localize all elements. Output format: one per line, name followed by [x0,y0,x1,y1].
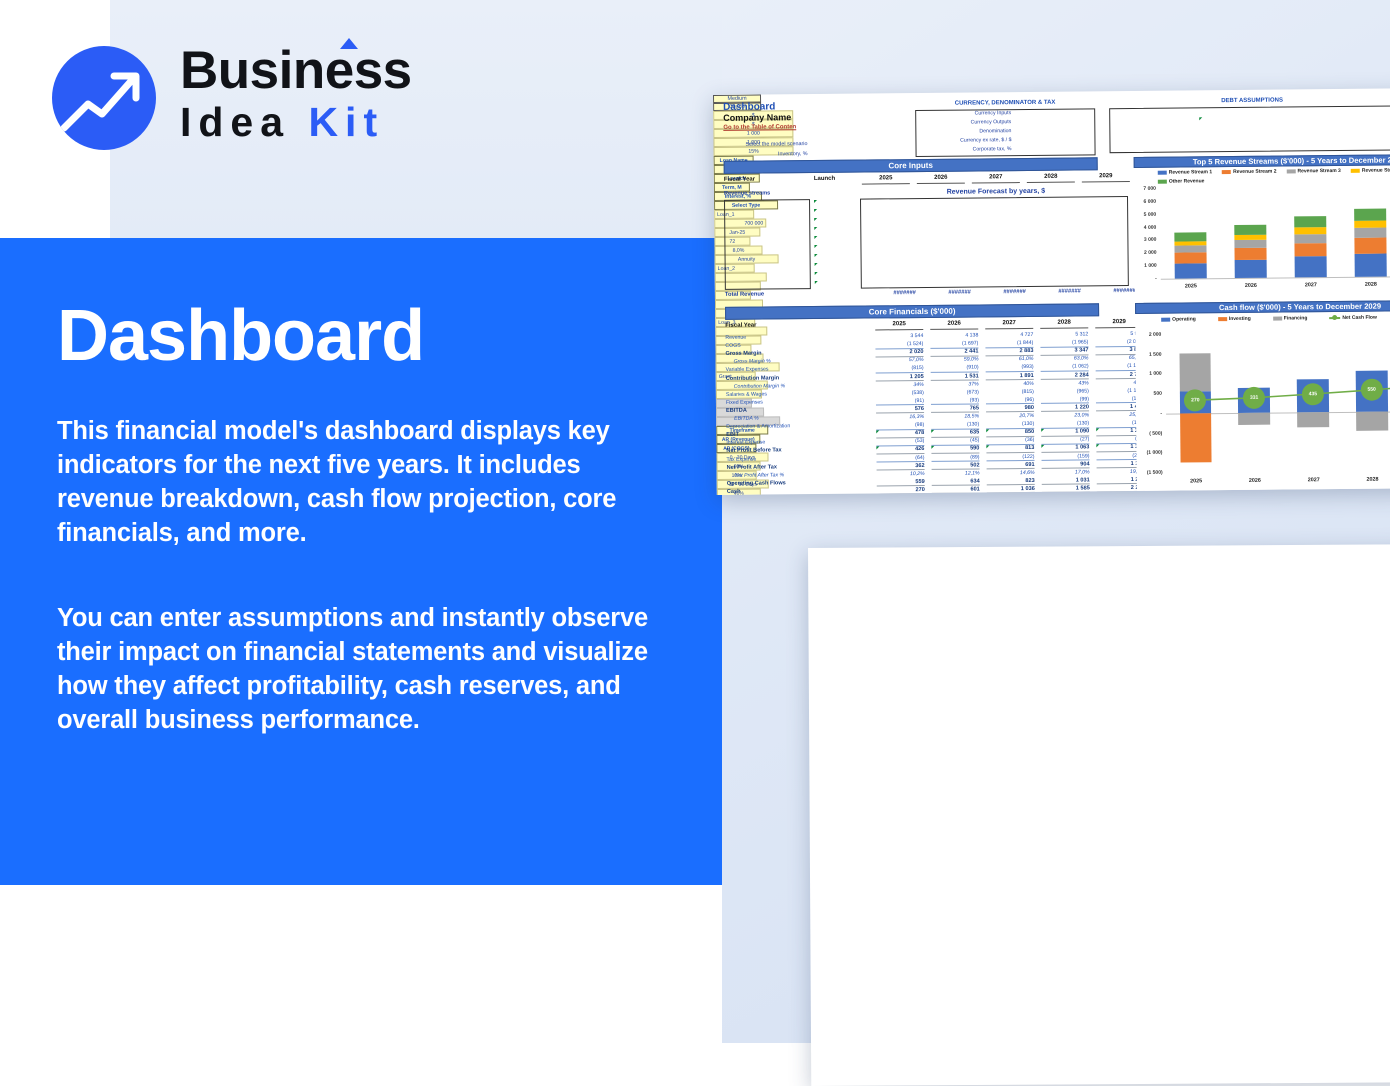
financial-row-value: (45) [931,438,979,446]
year-header: 2026 [917,175,965,181]
y-axis-tick: 6 000 [1134,199,1156,205]
year-header: 2027 [972,174,1020,180]
cell-comment-marker [1199,117,1202,120]
x-axis-tick: 2027 [1281,282,1341,289]
brand-name-line2: Idea Kit [180,100,412,145]
financial-row-label: Gross Margin [725,351,761,357]
sheet-title: Dashboard [723,102,775,113]
financial-row-value: 2 441 [930,349,978,357]
financials-year-rule [875,329,923,330]
financial-row-value: 1 531 [931,373,979,381]
financial-row-value: (93) [931,397,979,405]
bar-segment [1295,243,1326,257]
bar-segment [1295,257,1326,278]
bar-segment [1295,234,1326,243]
total-revenue-value: ####### [1083,289,1136,295]
financial-row-value: 1 063 [1041,445,1089,453]
financial-row-value: 16,3% [876,414,924,420]
financials-year-header: 2026 [930,320,978,326]
financial-row-label: Net Profit After Tax % [735,472,785,478]
legend-label: Revenue Stream 2 [1233,169,1276,175]
financial-row-value: (159) [1041,453,1089,461]
total-revenue-label: Total Revenue [725,293,764,299]
financial-row-value: 5 312 [1040,331,1088,337]
bar-segment [1355,238,1386,254]
financial-row-value: 12,1% [932,470,980,476]
fiscal-year-label: Fiscal Year [724,177,755,183]
financial-row-value: 1 205 [876,373,924,381]
cell-comment-marker [814,209,817,212]
year-header: 2029 [1082,173,1130,179]
y-axis-tick: 2 000 [1135,250,1157,256]
legend-swatch [1351,169,1360,173]
chart-legend: Revenue Stream 1Revenue Stream 2Revenue … [1158,167,1390,185]
financial-row-value: 10,2% [877,471,925,477]
financial-row-value: 18,5% [931,413,979,419]
dashboard-screenshot-bottom: DashboardCompany NameGo to the Table of … [808,544,1390,1086]
bar-segment [1355,228,1386,239]
financial-row-value: 635 [931,430,979,438]
legend-item: Revenue Stream 1 [1158,169,1212,176]
y-axis-tick: 5 000 [1134,211,1156,217]
inventory-label: Inventory, % [736,152,808,158]
cell-comment-marker [876,431,879,434]
financial-row-value: 823 [987,478,1035,486]
data-bubble-net-cash-flow: 435 [1302,383,1324,405]
bar-segment [1355,253,1386,276]
financials-year-header: 2028 [1040,319,1088,325]
bar-segment [1295,216,1326,228]
bar-segment [1295,228,1326,234]
cell-comment-marker [1096,428,1099,431]
sheet-content-top: DashboardCompany NameGo to the Table of … [713,88,1390,495]
financial-row-value: 1 891 [986,372,1034,380]
financial-row-value: (673) [931,389,979,395]
cell-comment-marker [814,227,817,230]
financial-row-value: (965) [1041,388,1089,394]
legend-swatch [1222,170,1231,174]
cell-comment-marker [814,236,817,239]
launch-label: Launch [814,176,835,182]
bar-segment [1175,253,1206,264]
financial-row-label: Cash [727,489,741,495]
financial-row-value: (98) [876,422,924,430]
legend-label: Revenue Stream 1 [1169,169,1212,175]
financial-row-label: Variable Expenses [726,367,769,373]
financial-row-value: 2 883 [985,348,1033,356]
year-rule [1082,181,1130,182]
y-axis-tick: 1 000 [1135,263,1157,269]
financial-row-label: Revenue [725,335,746,341]
financial-row-label: Tax Expense [726,456,756,462]
revenue-forecast-title: Revenue Forecast by years, $ [862,187,1130,197]
brand-name-line1: Business [180,44,412,98]
brand-kit-text: Kit [308,99,384,145]
financial-row-value: (36) [986,437,1034,445]
financial-row-value: 3 544 [875,333,923,339]
bar-segment [1235,234,1266,240]
financial-row-value: (1 697) [930,341,978,349]
debt-block-frame [1109,105,1390,153]
financial-row-label: Salaries & Wages [726,391,767,397]
cell-comment-marker [1041,429,1044,432]
revenue-streams-label: Revenue streams [724,191,770,197]
financial-row-value: 34% [876,382,924,388]
financial-row-value: 502 [932,462,980,470]
financial-row-value: 813 [986,445,1034,453]
sheet-content-bottom: DashboardCompany NameGo to the Table of … [808,544,1390,636]
financial-row-value: 478 [876,430,924,438]
x-axis-tick: 2025 [1161,283,1221,290]
legend-swatch [1158,171,1167,175]
financial-row-value: 37% [931,381,979,387]
financial-row-label: EBITDA [726,408,747,414]
bar-segment [1355,221,1386,228]
scenario-label: Select the model scenario [735,142,807,148]
cell-comment-marker [815,254,818,257]
currency-row-label: Denomination [917,129,1011,135]
hero-paragraph-2: You can enter assumptions and instantly … [57,602,657,738]
financial-row-value: (815) [876,365,924,373]
x-axis-tick: 2028 [1341,281,1390,288]
currency-row-label: Currency ex rate, $ / $ [917,138,1011,144]
year-header: 2028 [1027,174,1075,180]
financial-row-value: 2 284 [1041,372,1089,380]
financial-row-label: Contribution Margin % [734,383,785,389]
financial-row-value: (815) [986,389,1034,395]
debt-cell[interactable]: 72 [714,237,750,246]
financial-row-value: (130) [931,422,979,430]
financial-row-label: Interest Expense [726,440,765,446]
financials-year-header: 2027 [985,320,1033,326]
currency-row-label: Currency Inputs [917,111,1011,117]
financial-row-label: COGS [725,343,740,349]
financial-row-value: 4 727 [985,332,1033,338]
financial-row-value: 57,0% [876,357,924,363]
debt-cell[interactable]: Annuity [715,254,779,264]
bar-segment [1235,240,1266,248]
year-rule [862,183,910,184]
chart-title: Top 5 Revenue Streams ($'000) - 5 Years … [1134,154,1390,168]
financial-row-value: 20,7% [986,413,1034,419]
cell-comment-marker [814,245,817,248]
financial-row-value: (538) [876,390,924,396]
financial-row-value: (91) [876,398,924,406]
financials-fiscal-year-label: Fiscal Year [725,323,756,329]
financial-row-value: (53) [876,438,924,446]
financial-row-value: 63,0% [1041,356,1089,362]
financial-row-value: 43% [1041,380,1089,386]
legend-swatch [1158,180,1167,184]
debt-col-header: Select Type [714,200,778,210]
financial-row-value: (1 524) [875,341,923,349]
legend-item: Other Revenue [1158,178,1205,184]
financial-row-value: 634 [932,478,980,486]
financial-row-value: 59,0% [931,357,979,363]
legend-swatch [1286,169,1295,173]
financial-row-value: 14,6% [987,470,1035,476]
financial-row-value: 559 [877,479,925,487]
financial-row-label: Contribution Margin [726,375,780,382]
financial-row-value: (993) [986,364,1034,372]
financial-row-value: (1 965) [1040,340,1088,348]
chart-cash-flow: Cash flow ($'000) - 5 Years to December … [1135,300,1390,493]
core-financials-title: Core Financials ($'000) [725,303,1099,320]
debt-cell[interactable]: Loan_1 [714,210,754,219]
bar-segment [1235,260,1266,278]
financial-row-label: Operating Cash Flows [727,480,786,487]
brand-idea-text: Idea [180,99,308,145]
y-axis-tick: 3 000 [1134,237,1156,243]
financial-row-value: (1 844) [985,340,1033,348]
legend-label: Revenue Stream 4 [1362,167,1390,173]
data-bubble-net-cash-flow: 550 [1361,379,1383,401]
financial-row-value: 4 138 [930,332,978,338]
year-rule [1027,182,1075,183]
total-revenue-value: ####### [973,290,1026,296]
legend-item: Revenue Stream 3 [1286,168,1340,175]
financial-row-value: 426 [876,446,924,454]
background-bottom-white [0,885,722,1043]
financials-year-header: 2025 [875,321,923,327]
cell-comment-marker [1096,445,1099,448]
financial-row-value: (89) [931,454,979,462]
financial-row-value: (122) [986,453,1034,461]
legend-label: Revenue Stream 3 [1297,168,1340,174]
financial-row-value: 2 020 [875,349,923,357]
debt-cell[interactable]: 8,0% [714,246,762,255]
cell-comment-marker [931,446,934,449]
financial-row-value: 3 347 [1040,348,1088,356]
revenue-values-frame [860,196,1129,289]
circumflex-accent-icon [340,38,358,49]
financial-row-value: 576 [876,406,924,414]
financials-year-rule [985,328,1033,329]
year-rule [917,183,965,184]
chart-top5-revenue-streams: Top 5 Revenue Streams ($'000) - 5 Years … [1134,154,1390,297]
brand-logo: Business Idea Kit [52,38,452,156]
y-axis-tick: - [1135,276,1157,282]
currency-row-label: Corporate tax, % [918,147,1012,153]
financial-row-label: Gross Margin % [734,359,771,365]
financial-row-value: 61,0% [986,356,1034,362]
debt-cell[interactable]: Jan-25 [714,228,760,237]
debt-cell[interactable]: Loan_2 [715,264,755,273]
financial-row-value: (130) [986,421,1034,429]
financial-row-value: 590 [931,446,979,454]
financial-row-value: 850 [986,429,1034,437]
cell-comment-marker [876,447,879,450]
company-name: Company Name [723,113,791,123]
financial-row-label: Net Profit After Tax [727,464,777,470]
bar-segment [1175,246,1206,253]
financial-row-label: Fixed Expenses [726,399,763,405]
financial-row-value: 691 [987,462,1035,470]
financial-row-value: (99) [1041,396,1089,404]
bar-segment [1235,248,1266,260]
financial-row-label: Net Profit Before Tax [726,448,781,455]
financial-row-value: 765 [931,405,979,413]
financial-row-value: 23,0% [1041,412,1089,418]
y-axis-tick: 7 000 [1134,186,1156,192]
total-revenue-value: ####### [863,291,916,297]
bar-segment [1235,224,1266,234]
financial-row-value: (64) [876,454,924,462]
poster-root: Business Idea Kit Dashboard This financi… [0,0,1390,1043]
bar-segment [1175,241,1206,246]
growth-arrow-icon [52,46,156,150]
currency-row-label: Currency Outputs [917,120,1011,126]
financial-row-value: (910) [931,365,979,373]
debt-cell[interactable] [715,282,761,291]
page-title: Dashboard [57,300,677,372]
bar-segment [1175,233,1206,242]
financials-year-rule [1040,327,1088,328]
cell-comment-marker [814,200,817,203]
y-axis-tick: 4 000 [1134,224,1156,230]
total-revenue-value: ####### [918,291,971,297]
table-of-contents-link[interactable]: Go to the Table of Conten [723,124,796,131]
cell-comment-marker [815,272,818,275]
financial-row-value: 1 220 [1041,404,1089,412]
total-revenue-value: ####### [1028,289,1081,295]
legend-item: Revenue Stream 4 [1351,167,1390,174]
cell-comment-marker [815,281,818,284]
financial-row-value: (27) [1041,437,1089,445]
x-axis-tick: 2026 [1221,283,1281,290]
year-rule [972,182,1020,183]
cell-comment-marker [986,446,989,449]
legend-item: Revenue Stream 2 [1222,169,1276,176]
financial-row-value: (130) [1041,420,1089,428]
financial-row-value: 1 090 [1041,429,1089,437]
financial-row-value: 1 031 [1042,477,1090,485]
core-inputs-title: Core Inputs [724,157,1098,174]
financial-row-value: (1 062) [1041,364,1089,372]
legend-label: Other Revenue [1169,178,1205,184]
bar-segment [1355,208,1386,221]
financial-row-value: 40% [986,381,1034,387]
financial-row-value: 362 [877,463,925,471]
financial-row-label: EBIT [726,432,739,438]
brand-name-text: Business [180,41,412,100]
currency-block-header: CURRENCY, DENOMINATOR & TAX [915,99,1095,107]
financial-row-label: Depreciation & Amortization [726,423,790,430]
cell-comment-marker [986,430,989,433]
year-header: 2025 [862,175,910,181]
financial-row-value: 17,0% [1042,469,1090,475]
bar-segment [1175,263,1206,279]
cell-comment-marker [1041,445,1044,448]
debt-block-header: DEBT ASSUMPTIONS [1109,96,1390,105]
cell-comment-marker [931,430,934,433]
financial-row-value: 904 [1042,461,1090,469]
hero-paragraph-1: This financial model's dashboard display… [57,415,657,551]
financials-year-rule [930,328,978,329]
financial-row-label: EBITDA % [734,416,759,422]
financial-row-value: 980 [986,405,1034,413]
cell-comment-marker [815,263,818,266]
cell-comment-marker [814,218,817,221]
financial-row-value: (96) [986,397,1034,405]
dashboard-screenshot-top: DashboardCompany NameGo to the Table of … [713,88,1390,495]
